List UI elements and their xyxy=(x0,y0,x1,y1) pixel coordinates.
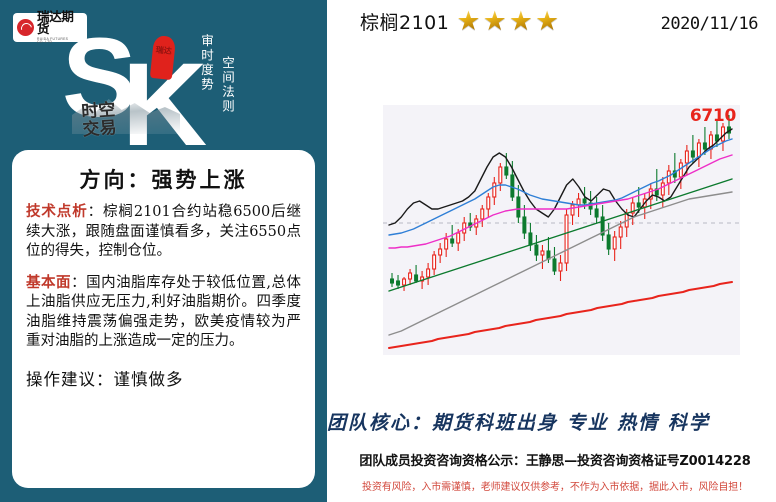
analysis-card: 方向：强势上涨 技术点析：棕榈2101合约站稳6500后继续大涨，跟随盘面谨慎看… xyxy=(12,150,315,488)
star-icon: ★ xyxy=(509,8,533,35)
paragraph-spacer xyxy=(26,264,301,273)
technical-analysis-paragraph: 技术点析：棕榈2101合约站稳6500后继续大涨，跟随盘面谨慎看多，关注6550… xyxy=(26,202,301,262)
slogan-shenshiduoshi: 审时度势 xyxy=(197,34,216,92)
fundamentals-paragraph: 基本面：国内油脂库存处于较低位置,总体上油脂供应无压力,利好油脂期价。四季度油脂… xyxy=(26,273,301,352)
team-core-slogan: 团队核心：期货科班出身 专业 热情 科学 xyxy=(327,408,776,435)
star-icon: ★ xyxy=(535,8,559,35)
technical-analysis-label: 技术点析 xyxy=(26,203,88,220)
last-price-label: 6710 xyxy=(690,106,736,126)
contract-name: 棕榈2101 xyxy=(360,8,449,35)
report-date: 2020/11/16 xyxy=(661,14,758,34)
operation-advice: 操作建议：谨慎做多 xyxy=(26,366,301,390)
ruida-spiral-icon xyxy=(17,19,34,36)
slogan-kongjianfaze: 空间法则 xyxy=(218,56,237,114)
chart-header: 棕榈2101 ★ ★ ★ ★ xyxy=(360,8,559,35)
chart-canvas xyxy=(383,105,740,355)
candlestick-chart: 6710 xyxy=(383,105,740,355)
risk-warning: 投资有风险，入市需谨慎，老师建议仅供参考，不作为入市依据，据此入市，风险自担！ xyxy=(327,478,776,493)
advisor-disclosure: 团队成员投资咨询资格公示：王静思—投资咨询资格证号Z0014228 xyxy=(327,450,776,469)
red-seal-stamp: 瑞达 xyxy=(150,35,176,80)
rating-stars: ★ ★ ★ ★ xyxy=(456,8,559,35)
star-icon: ★ xyxy=(456,8,480,35)
poster-root: 瑞达期货 RUIDA FUTURES CO.,LTD S K 时空交易 瑞达 审… xyxy=(0,0,776,502)
right-content-panel: 棕榈2101 ★ ★ ★ ★ 2020/11/16 6710 团队核心：期货科班… xyxy=(327,0,776,502)
direction-title: 方向：强势上涨 xyxy=(26,164,301,194)
fundamentals-label: 基本面 xyxy=(26,274,71,291)
calligraphy-shikong-jiaoyi: 时空交易 xyxy=(81,101,123,140)
seal-text: 瑞达 xyxy=(152,35,176,56)
star-icon: ★ xyxy=(483,8,507,35)
left-brand-panel: 瑞达期货 RUIDA FUTURES CO.,LTD S K 时空交易 瑞达 审… xyxy=(0,0,327,502)
